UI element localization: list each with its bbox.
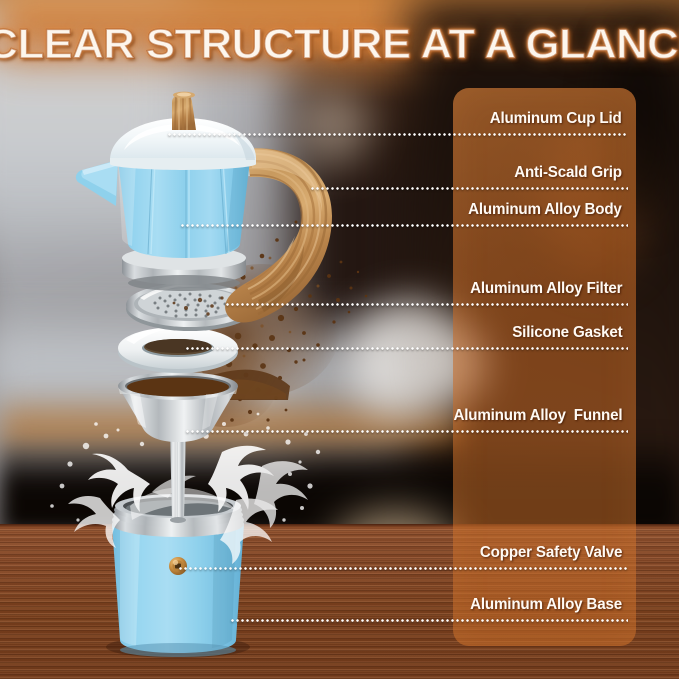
- label-aluminum-alloy-body: Aluminum Alloy Body: [468, 201, 622, 219]
- label-aluminum-alloy-filter: Aluminum Alloy Filter: [470, 280, 622, 298]
- bokeh-light-2: [300, 86, 370, 166]
- page-title: CLEAR STRUCTURE AT A GLANCE: [0, 22, 679, 66]
- leader-line-aluminum-cup-lid: [167, 133, 628, 136]
- leader-line-aluminum-alloy-funnel: [185, 430, 628, 433]
- leader-line-aluminum-alloy-body: [180, 224, 628, 227]
- leader-line-copper-safety-valve: [178, 567, 628, 570]
- leader-line-anti-scald-grip: [310, 187, 628, 190]
- leader-line-aluminum-alloy-filter: [225, 303, 628, 306]
- infographic-canvas: CLEAR STRUCTURE AT A GLANCE Aluminum Cup…: [0, 0, 679, 679]
- label-aluminum-alloy-funnel: Aluminum Alloy Funnel: [453, 407, 622, 425]
- label-anti-scald-grip: Anti-Scald Grip: [514, 164, 622, 182]
- label-aluminum-alloy-base: Aluminum Alloy Base: [470, 596, 622, 614]
- leader-line-aluminum-alloy-base: [230, 619, 628, 622]
- leader-line-silicone-gasket: [185, 347, 628, 350]
- label-silicone-gasket: Silicone Gasket: [512, 324, 622, 342]
- label-aluminum-cup-lid: Aluminum Cup Lid: [490, 110, 622, 128]
- label-copper-safety-valve: Copper Safety Valve: [480, 544, 622, 562]
- bokeh-light-4: [196, 330, 251, 390]
